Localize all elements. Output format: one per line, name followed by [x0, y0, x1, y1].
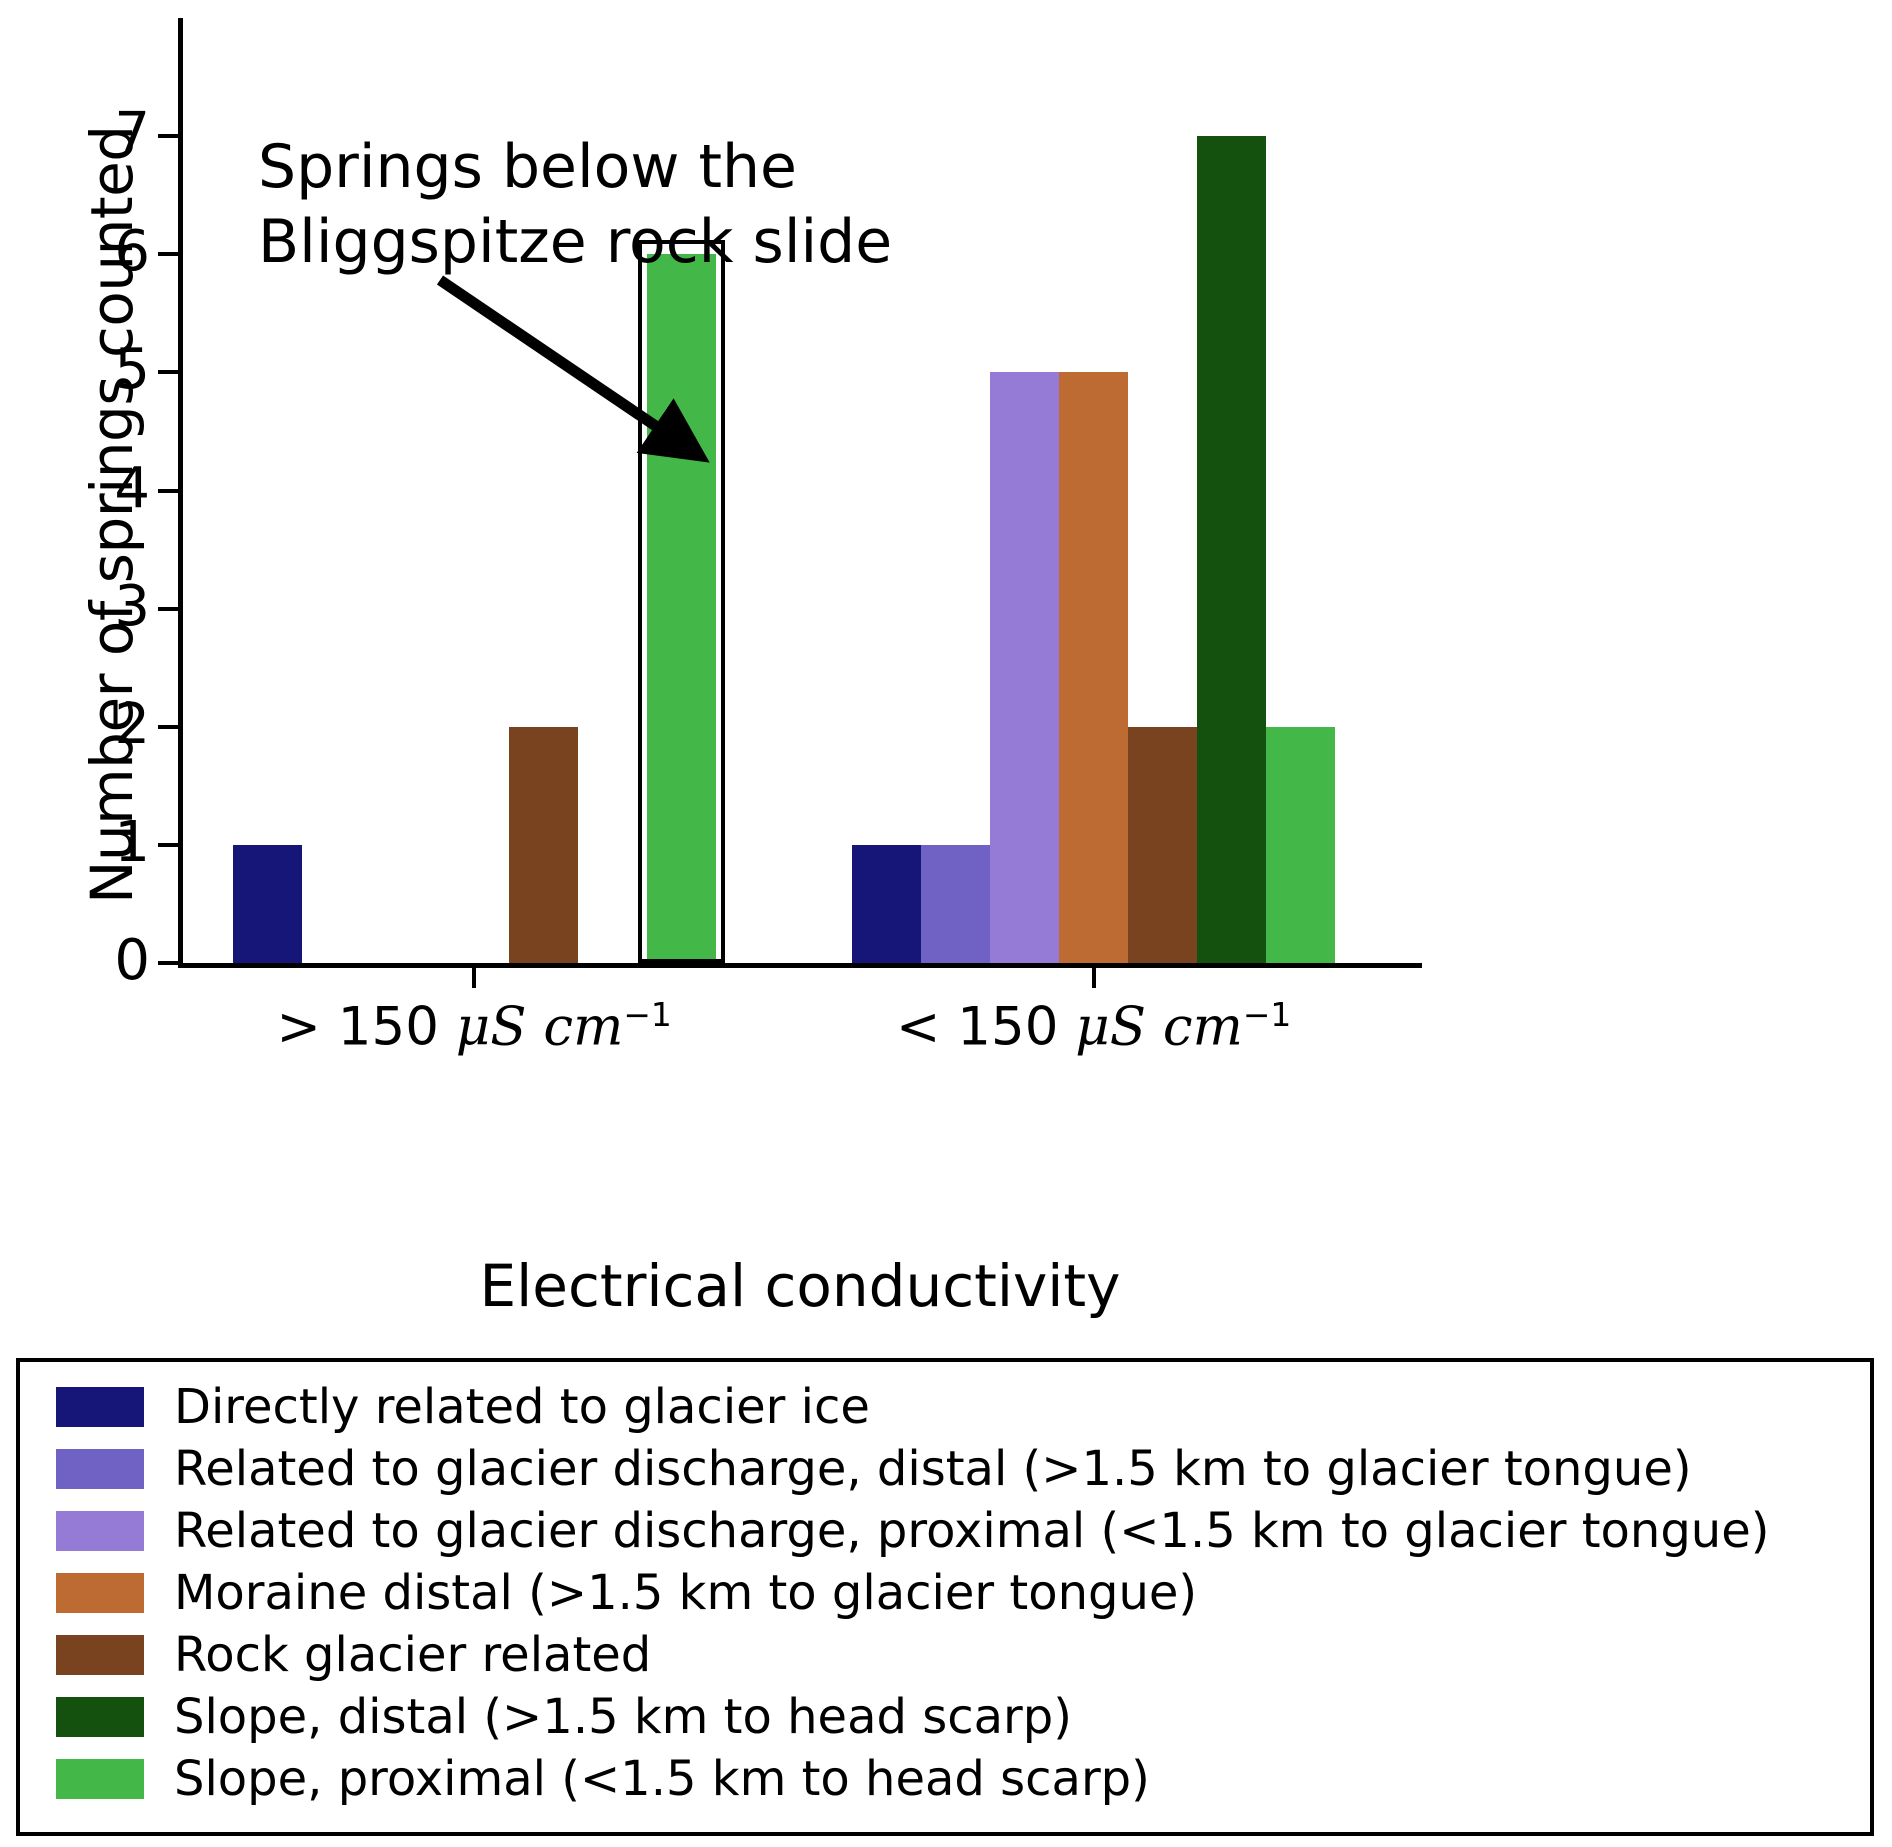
legend-item-label: Slope, distal (>1.5 km to head scarp) [174, 1693, 1072, 1741]
x-axis-line [178, 963, 1422, 968]
y-tick-label: 5 [90, 342, 150, 398]
y-tick-label: 1 [90, 815, 150, 871]
legend-item[interactable]: Slope, proximal (<1.5 km to head scarp) [20, 1748, 1870, 1810]
legend-color-swatch [56, 1697, 144, 1737]
legend-item[interactable]: Slope, distal (>1.5 km to head scarp) [20, 1686, 1870, 1748]
bar [509, 727, 578, 963]
y-tick-mark [158, 134, 180, 138]
y-tick-label: 3 [90, 579, 150, 635]
legend-color-swatch [56, 1759, 144, 1799]
bar [233, 845, 302, 963]
chart-annotation: Springs below the Bliggspitze rock slide [258, 130, 892, 280]
legend-color-swatch [56, 1449, 144, 1489]
legend-item[interactable]: Related to glacier discharge, proximal (… [20, 1500, 1870, 1562]
annotation-arrow-icon [430, 270, 730, 470]
annotation-line-1: Springs below the [258, 132, 797, 202]
y-tick-label: 4 [90, 461, 150, 517]
legend-item[interactable]: Moraine distal (>1.5 km to glacier tongu… [20, 1562, 1870, 1624]
legend-item[interactable]: Rock glacier related [20, 1624, 1870, 1686]
y-axis-tick-labels: 01234567 [80, 0, 150, 966]
bar [990, 372, 1059, 963]
legend: Directly related to glacier iceRelated t… [16, 1358, 1874, 1836]
annotation-line-2: Bliggspitze rock slide [258, 207, 892, 277]
x-tick-label: > 150 μS cm−1 [277, 995, 672, 1058]
y-tick-mark [158, 843, 180, 847]
x-tick-mark [472, 966, 476, 988]
bar [852, 845, 921, 963]
x-axis-label: Electrical conductivity [178, 1252, 1422, 1320]
y-tick-label: 2 [90, 697, 150, 753]
legend-color-swatch [56, 1635, 144, 1675]
legend-item-label: Related to glacier discharge, distal (>1… [174, 1445, 1692, 1493]
bar [1197, 136, 1266, 963]
legend-color-swatch [56, 1387, 144, 1427]
x-tick-label: < 150 μS cm−1 [896, 995, 1291, 1058]
y-tick-label: 6 [90, 224, 150, 280]
legend-item-label: Directly related to glacier ice [174, 1383, 870, 1431]
y-tick-mark [158, 370, 180, 374]
bar [1059, 372, 1128, 963]
bar [1128, 727, 1197, 963]
bar-chart-figure: Number of springs counted 01234567 > 150… [0, 0, 1892, 1847]
legend-item-label: Rock glacier related [174, 1631, 651, 1679]
legend-item-label: Moraine distal (>1.5 km to glacier tongu… [174, 1569, 1197, 1617]
legend-color-swatch [56, 1511, 144, 1551]
y-tick-label: 7 [90, 106, 150, 162]
y-tick-mark [158, 607, 180, 611]
plot-area: Number of springs counted 01234567 > 150… [0, 0, 1892, 1340]
y-tick-mark [158, 725, 180, 729]
bar [921, 845, 990, 963]
y-tick-mark [158, 489, 180, 493]
x-tick-mark [1092, 966, 1096, 988]
legend-color-swatch [56, 1573, 144, 1613]
y-tick-label: 0 [90, 933, 150, 989]
legend-item[interactable]: Directly related to glacier ice [20, 1376, 1870, 1438]
bar [1266, 727, 1335, 963]
legend-item-label: Slope, proximal (<1.5 km to head scarp) [174, 1755, 1150, 1803]
y-tick-mark [158, 961, 180, 965]
legend-item[interactable]: Related to glacier discharge, distal (>1… [20, 1438, 1870, 1500]
legend-item-label: Related to glacier discharge, proximal (… [174, 1507, 1769, 1555]
y-tick-mark [158, 252, 180, 256]
